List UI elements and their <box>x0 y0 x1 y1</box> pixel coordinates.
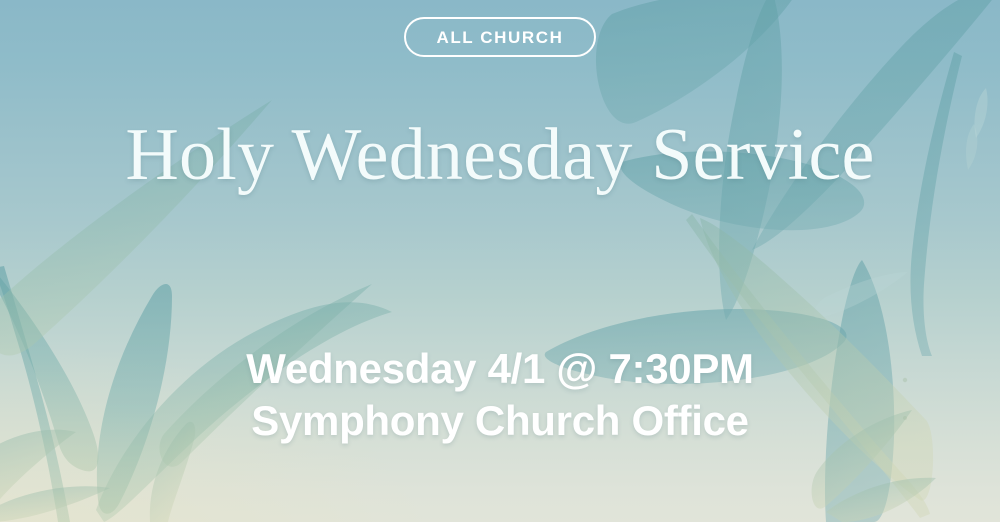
event-title: Holy Wednesday Service <box>125 118 874 192</box>
banner-content: ALL CHURCH Holy Wednesday Service Wednes… <box>0 0 1000 522</box>
event-datetime: Wednesday 4/1 @ 7:30PM <box>246 343 753 396</box>
event-banner: ALL CHURCH Holy Wednesday Service Wednes… <box>0 0 1000 522</box>
event-details: Wednesday 4/1 @ 7:30PM Symphony Church O… <box>246 343 753 449</box>
badge-label: ALL CHURCH <box>436 29 563 46</box>
all-church-badge: ALL CHURCH <box>404 17 595 57</box>
event-location: Symphony Church Office <box>251 395 748 448</box>
